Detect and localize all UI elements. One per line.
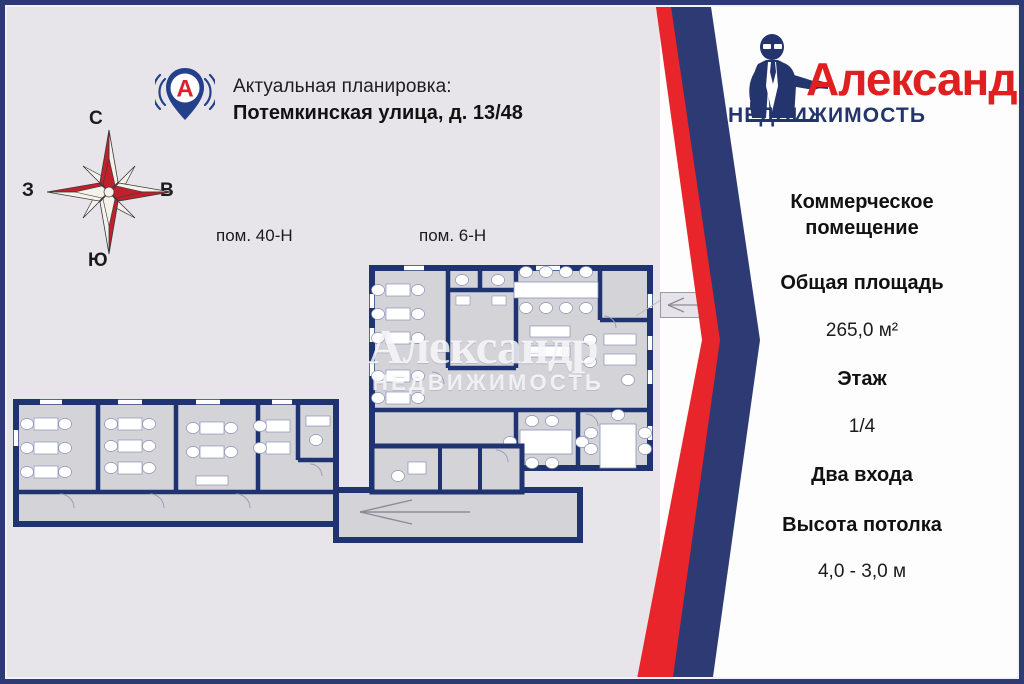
logo-wordmark: Александр [806, 52, 1024, 106]
area-label: Общая площадь [700, 271, 1024, 297]
property-type-line2: помещение [700, 216, 1024, 242]
plan-block-left [16, 402, 336, 524]
room-label-40n: пом. 40-Н [216, 226, 293, 246]
room-label-6n: пом. 6-Н [419, 226, 486, 246]
map-pin-icon: А [155, 62, 215, 140]
svg-text:А: А [176, 76, 193, 103]
ceiling-value: 4,0 - 3,0 м [700, 560, 1024, 584]
entrances-label: Два входа [700, 463, 1024, 489]
plan-subtitle: Актуальная планировка: [233, 74, 633, 100]
floorplan-listing-image: С З В Ю А Актуальная планировка: Потемки… [0, 0, 1024, 684]
plan-title-block: Актуальная планировка: Потемкинская улиц… [233, 74, 633, 127]
floor-label: Этаж [700, 367, 1024, 393]
plan-address: Потемкинская улица, д. 13/48 [233, 100, 633, 127]
furniture-office-2 [105, 418, 156, 474]
floor-value: 1/4 [700, 415, 1024, 439]
ceiling-label: Высота потолка [700, 513, 1024, 539]
info-panel: Коммерческое помещение Общая площадь 265… [700, 190, 1024, 585]
property-type-line1: Коммерческое [700, 190, 1024, 216]
furniture-office-1 [21, 418, 72, 478]
logo-subtitle: НЕДВИЖИМОСТЬ [728, 104, 926, 128]
floor-plan-drawing [0, 250, 700, 560]
company-logo: Александр НЕДВИЖИМОСТЬ [722, 26, 1012, 151]
plan-block-mid [372, 446, 522, 492]
area-value: 265,0 м² [700, 319, 1024, 343]
